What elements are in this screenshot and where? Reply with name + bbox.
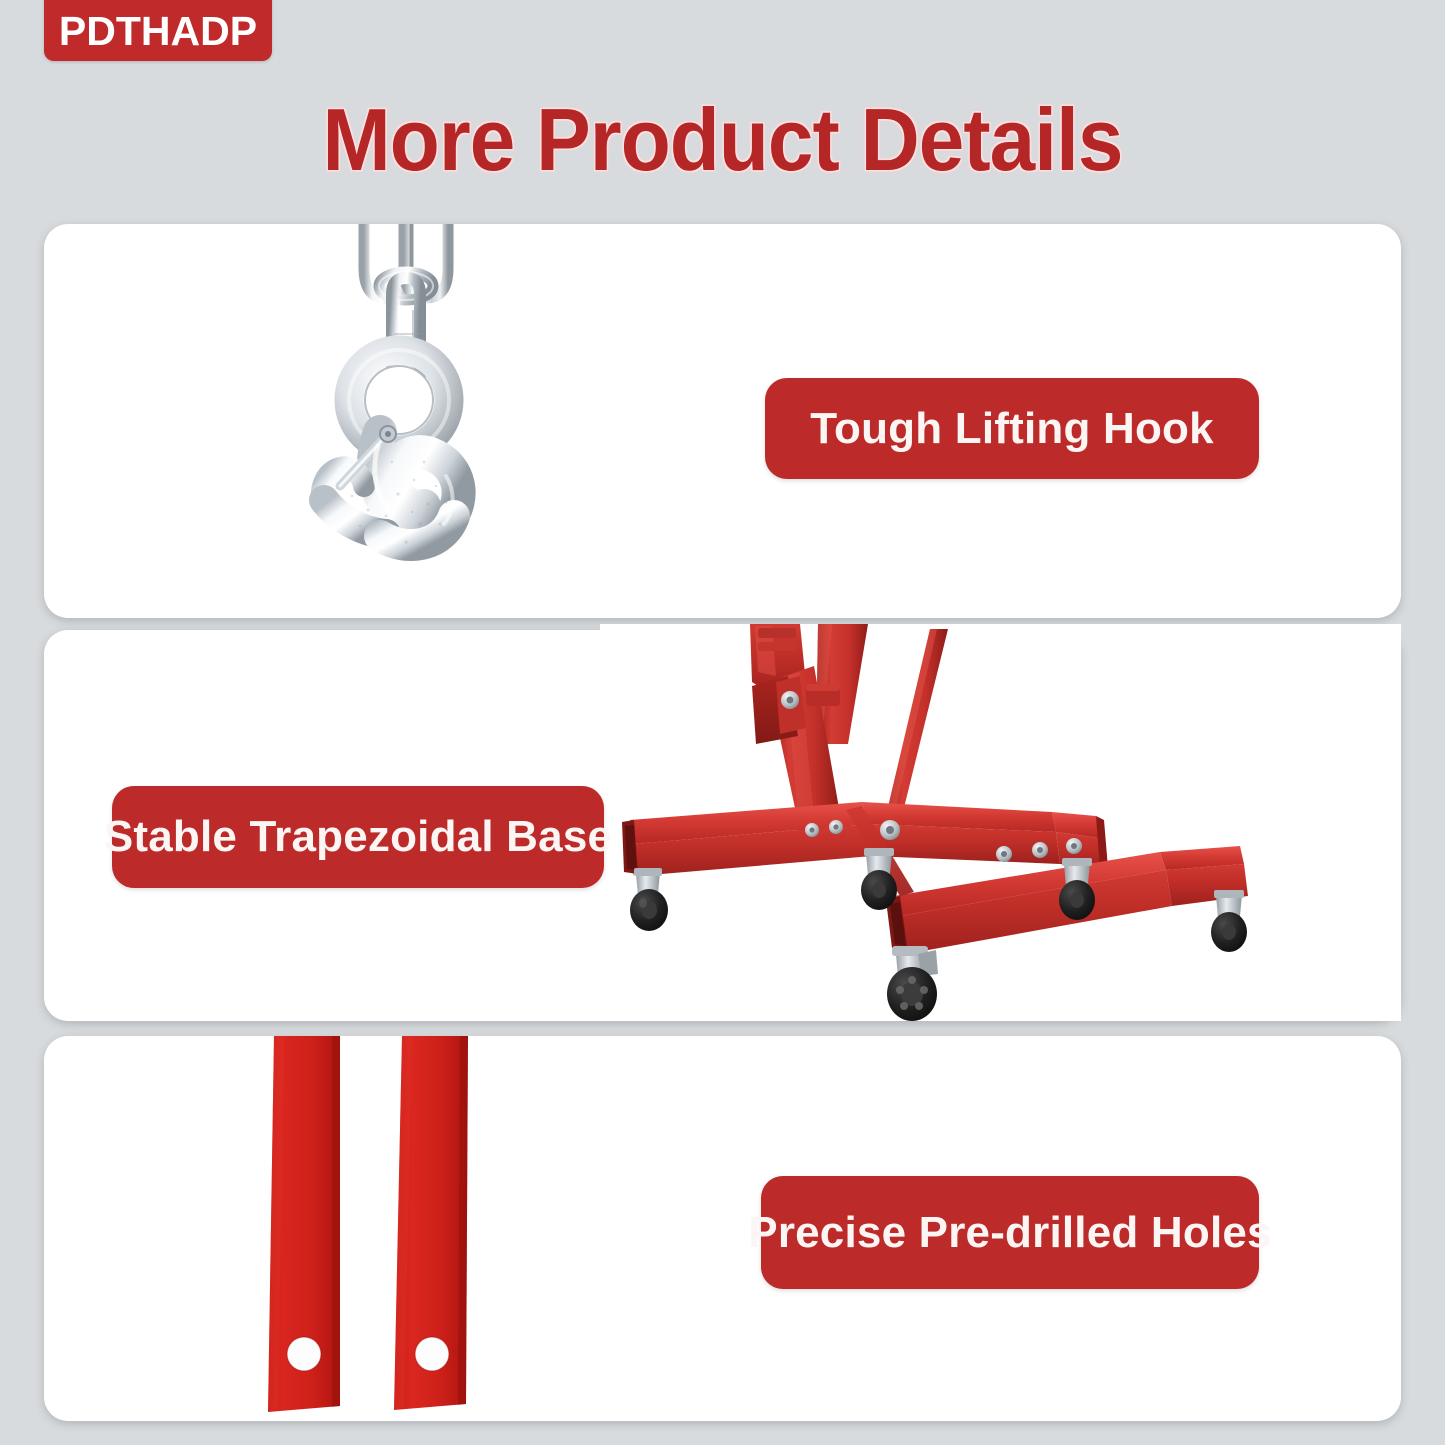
pre-drilled-bars-photo: [244, 1036, 544, 1421]
badge-label: Precise Pre-drilled Holes: [748, 1211, 1271, 1255]
lifting-hook-photo: [268, 224, 568, 618]
crane-trapezoidal-base-photo: [600, 624, 1401, 1021]
badge-label: Tough Lifting Hook: [810, 407, 1214, 451]
badge-precise-pre-drilled-holes[interactable]: Precise Pre-drilled Holes: [761, 1176, 1259, 1289]
badge-tough-lifting-hook[interactable]: Tough Lifting Hook: [765, 378, 1259, 479]
page-title: More Product Details: [51, 96, 1395, 184]
badge-stable-trapezoidal-base[interactable]: Stable Trapezoidal Base: [112, 786, 604, 888]
brand-logo-text: PDTHADP: [59, 11, 257, 52]
brand-logo: PDTHADP: [44, 0, 272, 61]
badge-label: Stable Trapezoidal Base: [104, 815, 612, 859]
